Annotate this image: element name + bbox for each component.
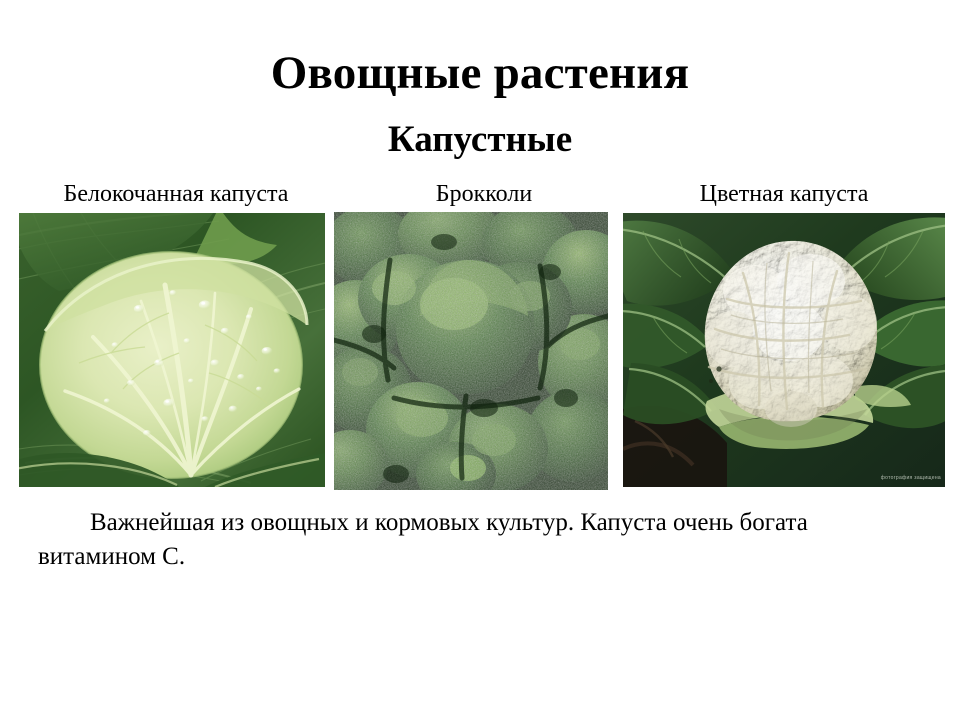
white-cabbage-illustration [19,213,325,487]
cauliflower-illustration [623,213,945,487]
slide-canvas: Овощные растения Капустные Белокочанная … [0,0,960,720]
broccoli-illustration [334,212,608,490]
label-broccoli: Брокколи [334,180,634,208]
white-cabbage-photo [19,213,325,487]
label-cauliflower: Цветная капуста [623,180,945,208]
cauliflower-photo: фотография защищена [623,213,945,487]
caption-text: Важнейшая из овощных и кормовых культур.… [38,506,928,574]
page-subtitle: Капустные [0,117,960,163]
label-white-cabbage: Белокочанная капуста [19,180,333,208]
broccoli-photo [334,212,608,490]
page-title: Овощные растения [0,44,960,102]
